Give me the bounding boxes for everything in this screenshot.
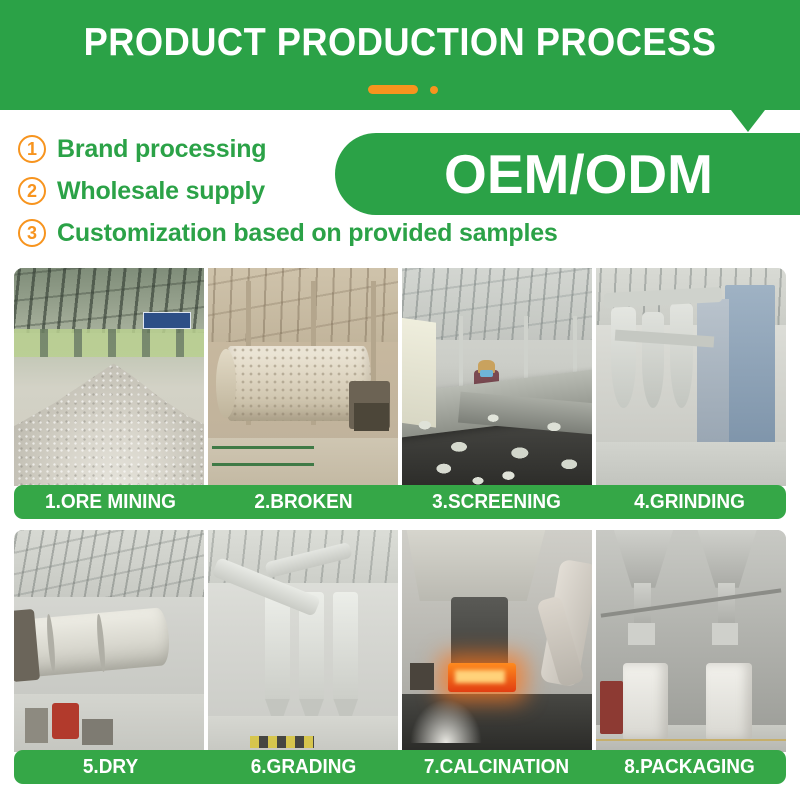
- header-banner: PRODUCT PRODUCTION PROCESS: [0, 0, 800, 110]
- process-caption-5: 5.DRY: [19, 750, 202, 784]
- process-caption-2: 2.BROKEN: [212, 485, 395, 519]
- process-photo-grinding: [596, 268, 786, 486]
- process-caption-1: 1.ORE MINING: [19, 485, 202, 519]
- list-item: 1 Brand processing: [18, 128, 658, 170]
- bullet-number-1: 1: [18, 135, 46, 163]
- bullet-number-2: 2: [18, 177, 46, 205]
- list-item: 3 Customization based on provided sample…: [18, 212, 658, 254]
- process-caption-bar-1: 1.ORE MINING 2.BROKEN 3.SCREENING 4.GRIN…: [14, 485, 786, 519]
- process-row-2: 5.DRY 6.GRADING 7.CALCINATION 8.PACKAGIN…: [0, 530, 800, 785]
- process-photo-screening: [402, 268, 592, 486]
- process-photo-row-2: [14, 530, 786, 752]
- infographic-page: PRODUCT PRODUCTION PROCESS OEM/ODM 1 Bra…: [0, 0, 800, 800]
- title-divider: [0, 85, 800, 95]
- divider-dash-icon: [368, 85, 418, 94]
- page-title: PRODUCT PRODUCTION PROCESS: [28, 21, 772, 65]
- process-photo-dry: [14, 530, 204, 752]
- process-caption-6: 6.GRADING: [212, 750, 395, 784]
- process-photo-packaging: [596, 530, 786, 752]
- process-photo-broken: [208, 268, 398, 486]
- process-photo-grading: [208, 530, 398, 752]
- process-caption-3: 3.SCREENING: [405, 485, 588, 519]
- bullet-label-3: Customization based on provided samples: [57, 219, 558, 248]
- divider-dot-icon: [430, 86, 438, 94]
- bullet-label-1: Brand processing: [57, 135, 266, 164]
- intro-section: OEM/ODM 1 Brand processing 2 Wholesale s…: [0, 110, 800, 268]
- process-caption-8: 8.PACKAGING: [598, 750, 781, 784]
- process-photo-row-1: [14, 268, 786, 486]
- process-row-1: 1.ORE MINING 2.BROKEN 3.SCREENING 4.GRIN…: [0, 268, 800, 518]
- process-caption-bar-2: 5.DRY 6.GRADING 7.CALCINATION 8.PACKAGIN…: [14, 750, 786, 784]
- service-list: 1 Brand processing 2 Wholesale supply 3 …: [18, 128, 658, 254]
- process-caption-7: 7.CALCINATION: [405, 750, 588, 784]
- process-caption-4: 4.GRINDING: [598, 485, 781, 519]
- list-item: 2 Wholesale supply: [18, 170, 658, 212]
- bullet-label-2: Wholesale supply: [57, 177, 265, 206]
- process-photo-ore-mining: [14, 268, 204, 486]
- bullet-number-3: 3: [18, 219, 46, 247]
- process-photo-calcination: [402, 530, 592, 752]
